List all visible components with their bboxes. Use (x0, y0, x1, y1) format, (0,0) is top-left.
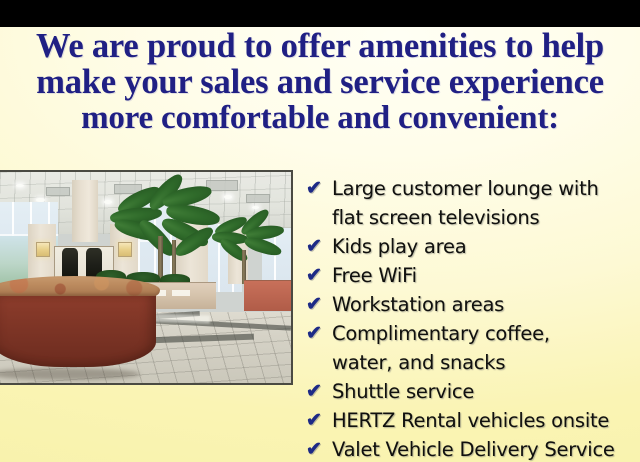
photo-ceiling-light (252, 206, 259, 209)
list-item: ✔ Kids play area (306, 232, 640, 261)
list-item-label: Workstation areas (332, 290, 640, 319)
list-item-label: HERTZ Rental vehicles onsite (332, 406, 640, 435)
check-icon: ✔ (306, 435, 332, 462)
list-item: ✔ HERTZ Rental vehicles onsite (306, 406, 640, 435)
photo-planter-right (244, 280, 291, 311)
list-item: ✔ Complimentary coffee,water, and snacks (306, 319, 640, 377)
check-icon: ✔ (306, 377, 332, 406)
list-item-label: Kids play area (332, 232, 640, 261)
list-item: ✔ Valet Vehicle Delivery Service (306, 435, 640, 462)
photo-palm-trunk (242, 250, 246, 284)
amenities-list: ✔ Large customer lounge withflat screen … (306, 174, 640, 462)
page-title: We are proud to offer amenities to help … (0, 28, 640, 136)
list-item: ✔ Shuttle service (306, 377, 640, 406)
check-icon: ✔ (306, 406, 332, 435)
list-item-label: Shuttle service (332, 377, 640, 406)
list-item-label: Valet Vehicle Delivery Service (332, 435, 640, 462)
photo-planter-plaque (172, 290, 190, 296)
photo-ceiling-vent (46, 187, 70, 196)
list-item-label: Complimentary coffee,water, and snacks (332, 319, 640, 377)
headline-line-3: more comfortable and convenient: (0, 100, 640, 136)
photo-ceiling-light (16, 184, 24, 187)
photo-column-main (72, 180, 98, 242)
slide-canvas: We are proud to offer amenities to help … (0, 0, 640, 462)
photo-palm-large (110, 184, 220, 280)
list-item: ✔ Free WiFi (306, 261, 640, 290)
lobby-photo-image (0, 172, 291, 383)
check-icon: ✔ (306, 290, 332, 319)
headline-line-1: We are proud to offer amenities to help (0, 28, 640, 64)
list-item-label: Free WiFi (332, 261, 640, 290)
photo-ceiling-vent (246, 194, 270, 203)
photo-palm-small (212, 216, 290, 286)
list-item: ✔ Large customer lounge withflat screen … (306, 174, 640, 232)
list-item: ✔ Workstation areas (306, 290, 640, 319)
list-item-label-continuation: water, and snacks (332, 348, 640, 377)
list-item-label-continuation: flat screen televisions (332, 203, 640, 232)
list-item-label: Large customer lounge withflat screen te… (332, 174, 640, 232)
photo-reception-desk (0, 276, 160, 372)
check-icon: ✔ (306, 261, 332, 290)
check-icon: ✔ (306, 319, 332, 348)
lobby-photo (0, 170, 293, 385)
top-black-band (0, 0, 640, 27)
check-icon: ✔ (306, 174, 332, 203)
photo-wall-sconce (36, 242, 50, 257)
headline-line-2: make your sales and service experience (0, 64, 640, 100)
photo-sculpture (62, 248, 78, 278)
check-icon: ✔ (306, 232, 332, 261)
photo-ceiling-light (224, 195, 232, 199)
photo-desk-body (0, 293, 156, 367)
photo-desk-counter (0, 276, 160, 296)
